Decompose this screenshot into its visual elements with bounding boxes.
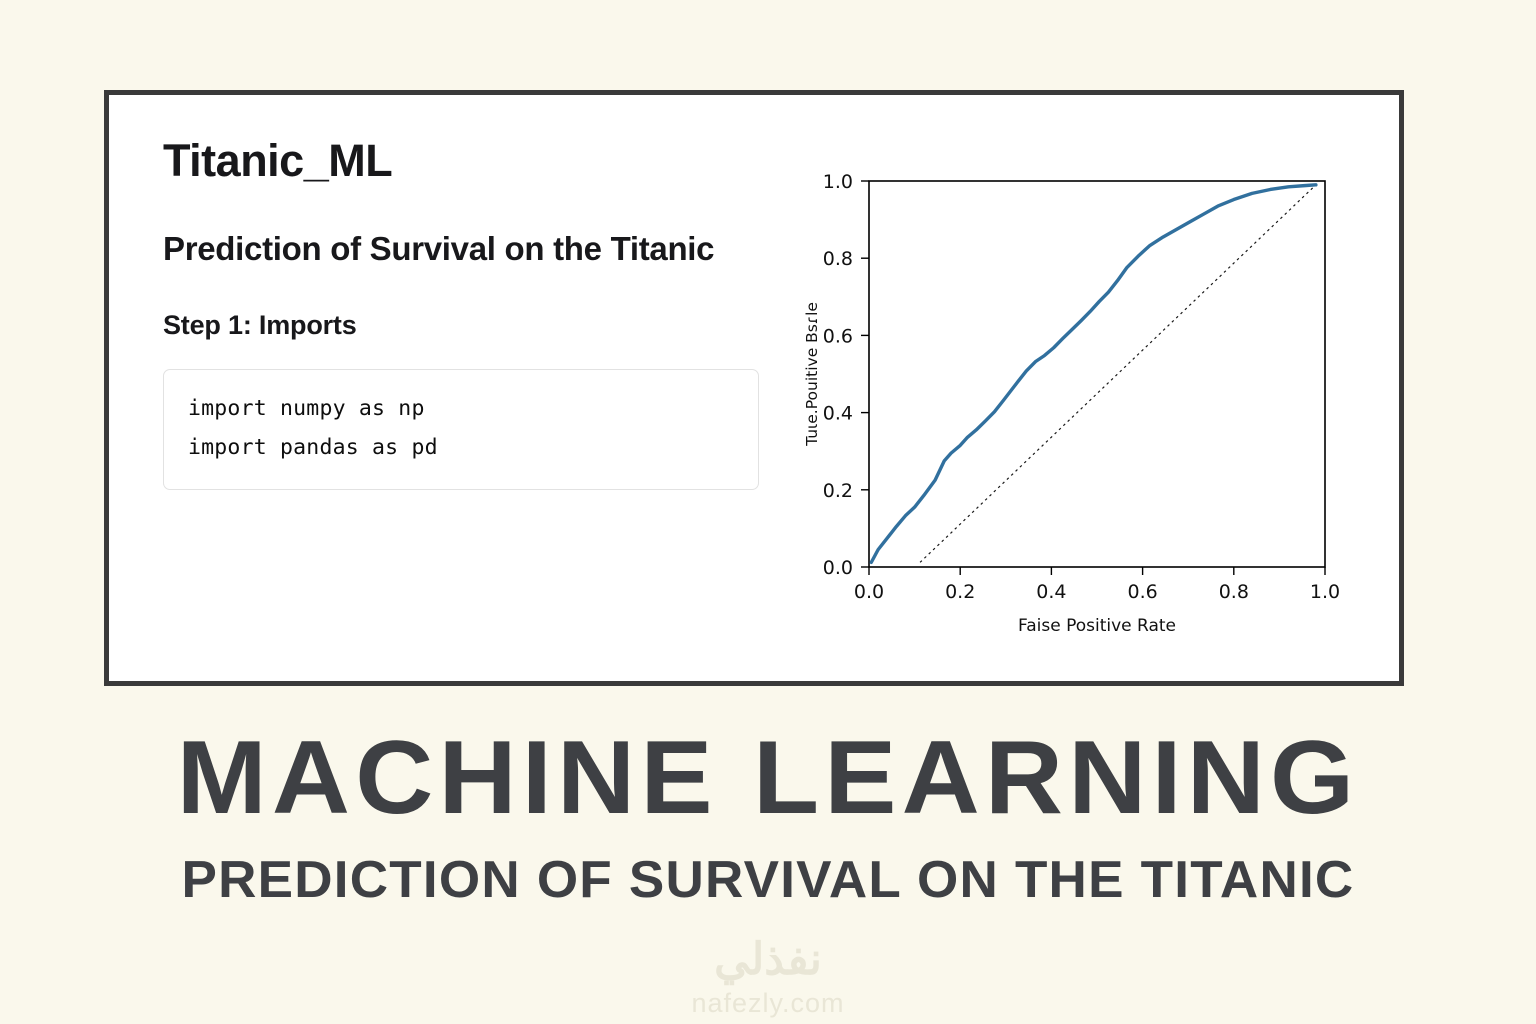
- banner-subtitle: PREDICTION OF SURVIVAL ON THE TITANIC: [0, 854, 1536, 906]
- x-axis-ticks: 0.0 0.2 0.4 0.6 0.8 1.0: [854, 567, 1340, 603]
- banner: MACHINE LEARNING PREDICTION OF SURVIVAL …: [0, 726, 1536, 906]
- x-tick-label: 0.4: [1036, 581, 1066, 603]
- x-axis-title: Faise Positive Rate: [1018, 616, 1176, 636]
- watermark: نفذلي nafezly.com: [0, 938, 1536, 1017]
- y-tick-label: 1.0: [823, 171, 853, 193]
- plot-frame: [869, 181, 1325, 567]
- code-line: import numpy as np: [188, 390, 734, 428]
- y-tick-label: 0.2: [823, 480, 853, 502]
- y-tick-label: 0.8: [823, 248, 853, 270]
- notebook-title: Titanic_ML: [163, 137, 809, 184]
- watermark-arabic-logo: نفذلي: [0, 938, 1536, 982]
- x-tick-label: 0.0: [854, 581, 884, 603]
- y-tick-label: 0.4: [823, 403, 853, 425]
- watermark-domain: nafezly.com: [0, 990, 1536, 1017]
- step-heading: Step 1: Imports: [163, 310, 809, 341]
- notebook-text-column: Titanic_ML Prediction of Survival on the…: [109, 95, 809, 681]
- y-tick-label: 0.0: [823, 557, 853, 579]
- code-block[interactable]: import numpy as np import pandas as pd: [163, 369, 759, 490]
- code-line: import pandas as pd: [188, 429, 734, 467]
- banner-title: MACHINE LEARNING: [0, 726, 1536, 830]
- roc-curve-chart: 0.0 0.2 0.4 0.6 0.8 1.0 0.0 0.2 0.4 0.6 …: [791, 161, 1371, 661]
- chart-column: 0.0 0.2 0.4 0.6 0.8 1.0 0.0 0.2 0.4 0.6 …: [809, 95, 1399, 681]
- x-tick-label: 0.2: [945, 581, 975, 603]
- y-tick-label: 0.6: [823, 325, 853, 347]
- y-axis-title: Tuɩe.Pouitive Bsɾle: [803, 302, 821, 447]
- notebook-card: Titanic_ML Prediction of Survival on the…: [104, 90, 1404, 686]
- x-tick-label: 1.0: [1310, 581, 1340, 603]
- y-axis-ticks: 0.0 0.2 0.4 0.6 0.8 1.0: [823, 171, 869, 579]
- x-tick-label: 0.8: [1219, 581, 1249, 603]
- notebook-subtitle: Prediction of Survival on the Titanic: [163, 228, 753, 270]
- x-tick-label: 0.6: [1127, 581, 1157, 603]
